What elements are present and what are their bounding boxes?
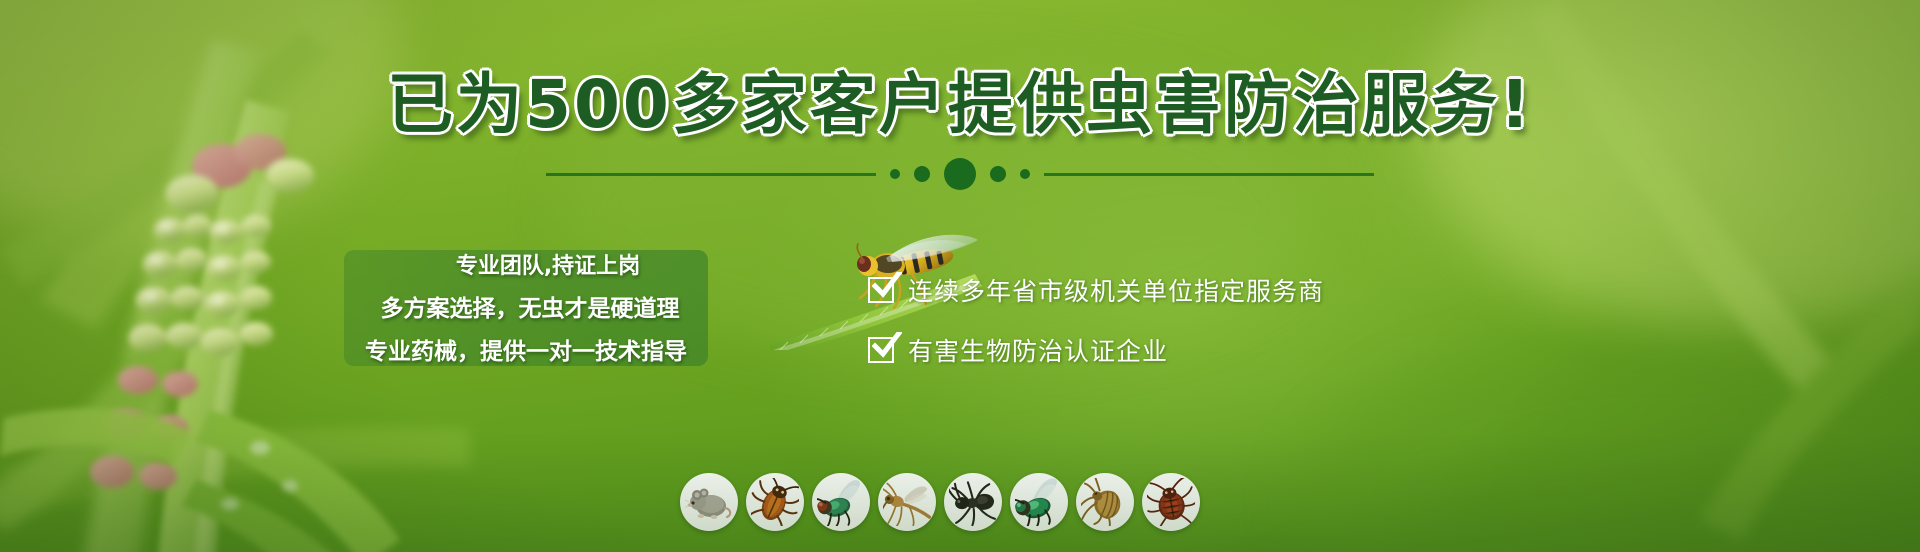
divider-dot-small-left	[890, 169, 900, 179]
slogan-line-1: 专业团队,持证上岗	[360, 248, 692, 280]
divider-dot-medium-left	[914, 166, 930, 182]
bg-blur-bottom-right	[1300, 340, 1920, 552]
promo-banner: 已为500多家客户提供虫害防治服务!	[0, 0, 1920, 552]
mosquito-icon[interactable]	[878, 473, 936, 531]
feature-checklist: 连续多年省市级机关单位指定服务商 有害生物防治认证企业	[868, 272, 1324, 368]
banner-headline: 已为500多家客户提供虫害防治服务!	[0, 72, 1920, 138]
blowfly-icon[interactable]	[1010, 473, 1068, 531]
fly-icon[interactable]	[812, 473, 870, 531]
slogan-line-2: 多方案选择，无虫才是硬道理	[360, 289, 692, 323]
pest-icon-row	[680, 473, 1200, 531]
divider-dot-large	[944, 158, 976, 190]
divider-rule-right	[1044, 173, 1374, 176]
slogan-line-3: 专业药械，提供一对一技术指导	[360, 332, 692, 366]
checklist-item-label: 连续多年省市级机关单位指定服务商	[908, 272, 1324, 308]
checkbox-check-icon	[868, 337, 894, 363]
slogan-panel: 专业团队,持证上岗 多方案选择，无虫才是硬道理 专业药械，提供一对一技术指导	[344, 250, 708, 366]
rat-icon[interactable]	[680, 473, 738, 531]
divider-dot-medium-right	[990, 166, 1006, 182]
divider-rule-left	[546, 173, 876, 176]
bedbug-icon[interactable]	[1142, 473, 1200, 531]
cockroach-icon[interactable]	[746, 473, 804, 531]
ant-icon[interactable]	[944, 473, 1002, 531]
divider-dot-small-right	[1020, 169, 1030, 179]
banner-headline-text: 已为500多家客户提供虫害防治服务!	[387, 66, 1533, 143]
decorative-divider	[0, 158, 1920, 190]
checkbox-check-icon	[868, 277, 894, 303]
checklist-item: 有害生物防治认证企业	[868, 332, 1324, 368]
checklist-item: 连续多年省市级机关单位指定服务商	[868, 272, 1324, 308]
checklist-item-label: 有害生物防治认证企业	[908, 332, 1168, 368]
flea-icon[interactable]	[1076, 473, 1134, 531]
